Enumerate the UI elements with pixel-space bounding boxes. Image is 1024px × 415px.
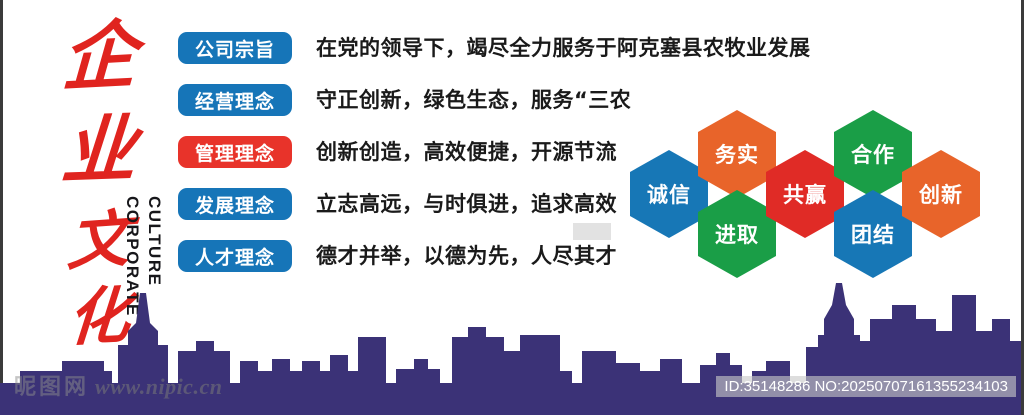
row-text-management-philosophy: 创新创造，高效便捷，开源节流 [316,134,617,170]
watermark-smudge [573,223,611,240]
hexagon-unity[interactable]: 团结 [834,190,912,278]
hexagon-pragmatism[interactable]: 务实 [698,110,776,198]
row-text-company-purpose: 在党的领导下，竭尽全力服务于阿克塞县农牧业发展 [316,30,811,66]
philosophy-row: 公司宗旨 在党的领导下，竭尽全力服务于阿克塞县农牧业发展 [178,30,818,82]
hexagon-cluster: 诚信 务实 进取 共赢 合作 团结 创新 [622,102,1022,280]
hexagon-enterprising[interactable]: 进取 [698,190,776,278]
badge-business-philosophy[interactable]: 经营理念 [178,84,292,116]
site-watermark-url: www.nipic.cn [95,374,222,399]
badge-company-purpose[interactable]: 公司宗旨 [178,32,292,64]
hexagon-integrity[interactable]: 诚信 [630,150,708,238]
row-text-business-philosophy: 守正创新，绿色生态，服务“三农 [316,82,631,118]
english-culture-label: CULTURE [144,196,164,286]
hexagon-winwin[interactable]: 共赢 [766,150,844,238]
image-id-watermark: ID:35148286 NO:20250707161355234103 [716,376,1016,397]
badge-development-philosophy[interactable]: 发展理念 [178,188,292,220]
row-text-development-philosophy: 立志高远，与时俱进，追求高效 [316,186,617,222]
hexagon-innovation[interactable]: 创新 [902,150,980,238]
badge-talent-philosophy[interactable]: 人才理念 [178,240,292,272]
title-char-2: 业 [41,112,157,190]
hexagon-cooperation[interactable]: 合作 [834,110,912,198]
site-watermark-cn: 昵图网 [14,374,89,399]
poster-canvas: 企 业 文 化 CULTURE CORPORATE 公司宗旨 在党的领导下，竭尽… [0,0,1024,415]
row-text-talent-philosophy: 德才并举，以德为先，人尽其才 [316,238,617,274]
badge-management-philosophy[interactable]: 管理理念 [178,136,292,168]
title-char-1: 企 [43,17,156,97]
site-watermark: 昵图网 www.nipic.cn [14,369,222,401]
